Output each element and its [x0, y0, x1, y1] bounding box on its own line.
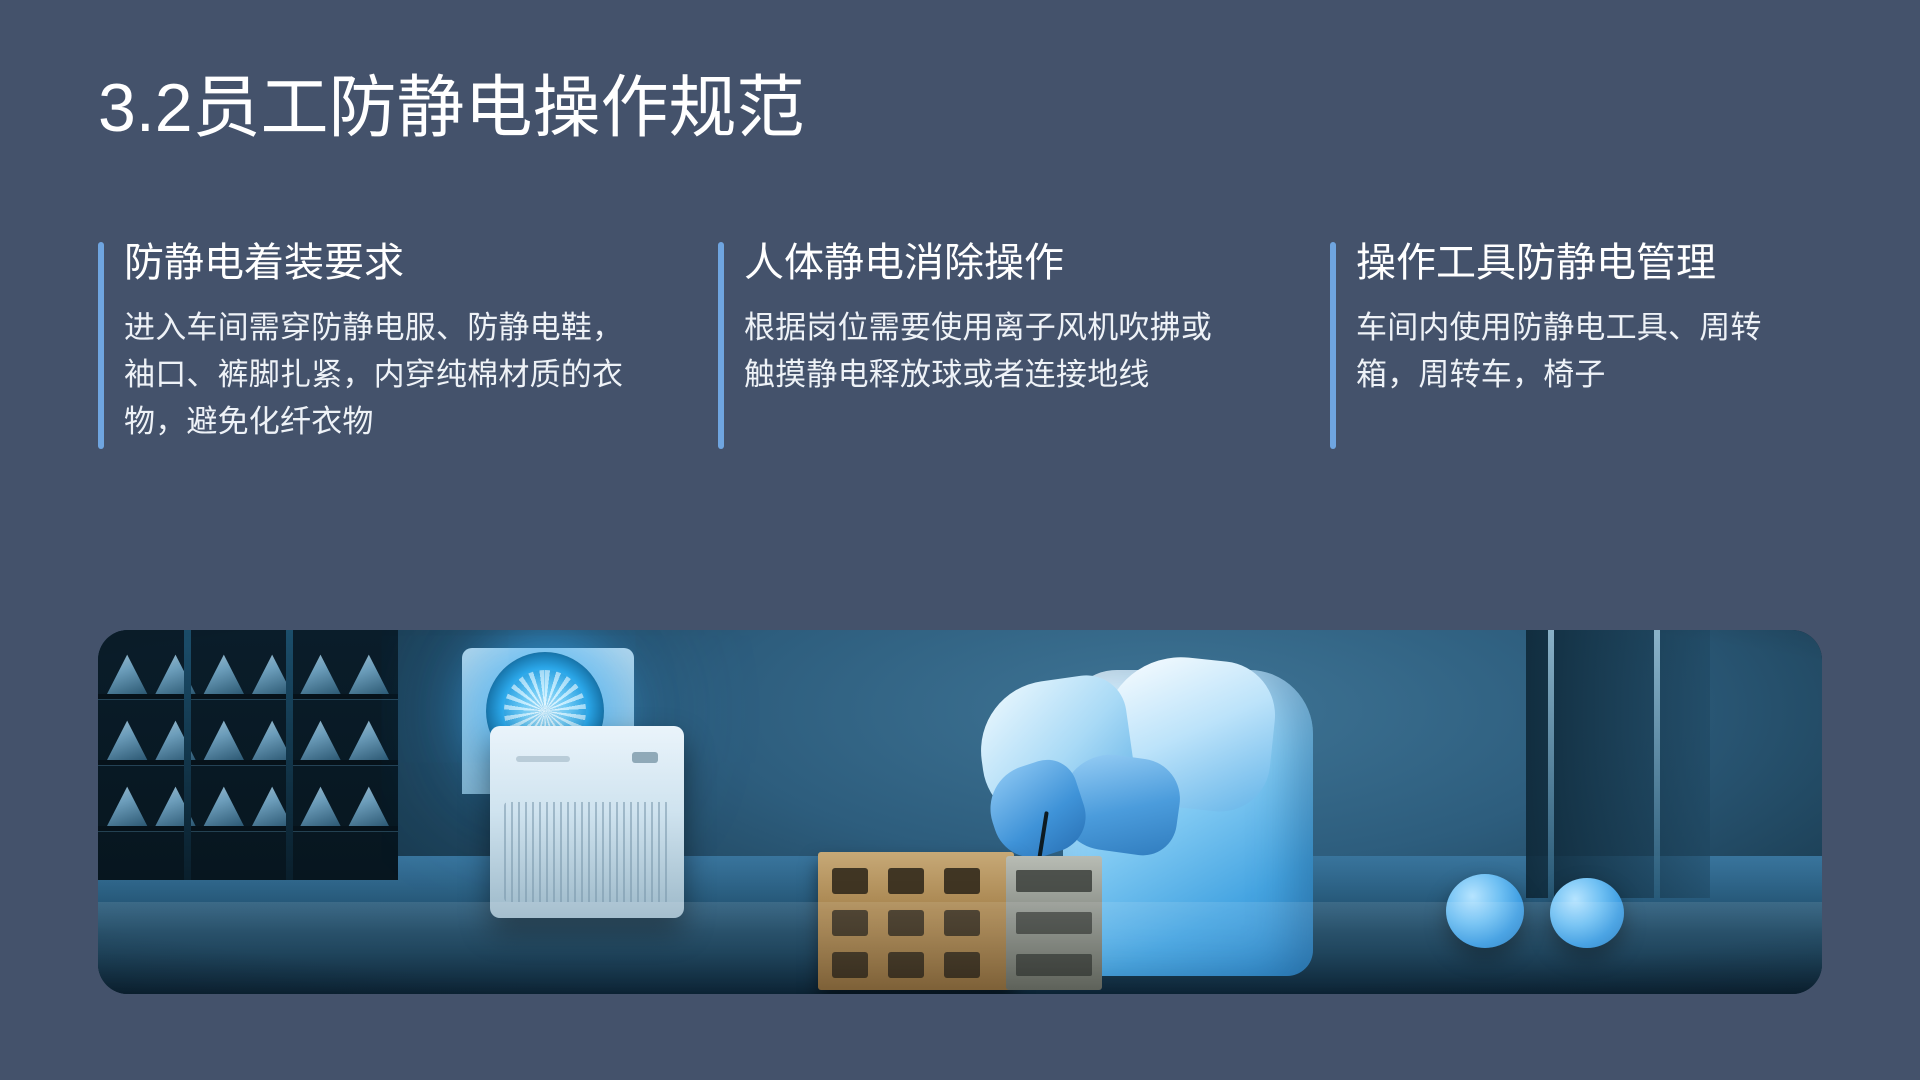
- column-2-body: 根据岗位需要使用离子风机吹拂或触摸静电释放球或者连接地线: [744, 304, 1239, 398]
- photo-shelf-items: [106, 770, 390, 828]
- column-2-title: 人体静电消除操作: [744, 238, 1330, 288]
- photo-plastic-crate: [1006, 856, 1102, 990]
- column-3-title: 操作工具防静电管理: [1356, 238, 1822, 288]
- photo-shelf-items: [106, 638, 390, 696]
- accent-bar-icon: [1330, 242, 1336, 449]
- photo-static-discharge-ball: [1446, 874, 1524, 948]
- photo-crate-stack: [818, 838, 1098, 990]
- photo-cabinet: [1526, 630, 1710, 898]
- photo-static-discharge-ball: [1550, 878, 1624, 948]
- column-3-body: 车间内使用防静电工具、周转箱，周转车，椅子: [1356, 304, 1822, 398]
- page-title: 3.2员工防静电操作规范: [98, 68, 805, 148]
- photo-cardboard-crate: [818, 852, 1014, 990]
- slide-root: 3.2员工防静电操作规范 防静电着装要求 进入车间需穿防静电服、防静电鞋，袖口、…: [0, 0, 1920, 1080]
- accent-bar-icon: [98, 242, 104, 449]
- photo-shelving: [98, 630, 398, 880]
- photo-shelf-items: [106, 704, 390, 762]
- content-column-2: 人体静电消除操作 根据岗位需要使用离子风机吹拂或触摸静电释放球或者连接地线: [718, 238, 1330, 445]
- column-1-title: 防静电着装要求: [124, 238, 718, 288]
- illustration-photo: [98, 630, 1822, 994]
- accent-bar-icon: [718, 242, 724, 449]
- content-columns: 防静电着装要求 进入车间需穿防静电服、防静电鞋，袖口、裤脚扎紧，内穿纯棉材质的衣…: [98, 238, 1822, 445]
- photo-air-purifier: [490, 726, 684, 918]
- content-column-1: 防静电着装要求 进入车间需穿防静电服、防静电鞋，袖口、裤脚扎紧，内穿纯棉材质的衣…: [98, 238, 718, 445]
- column-1-body: 进入车间需穿防静电服、防静电鞋，袖口、裤脚扎紧，内穿纯棉材质的衣物，避免化纤衣物: [124, 304, 629, 445]
- content-column-3: 操作工具防静电管理 车间内使用防静电工具、周转箱，周转车，椅子: [1330, 238, 1822, 445]
